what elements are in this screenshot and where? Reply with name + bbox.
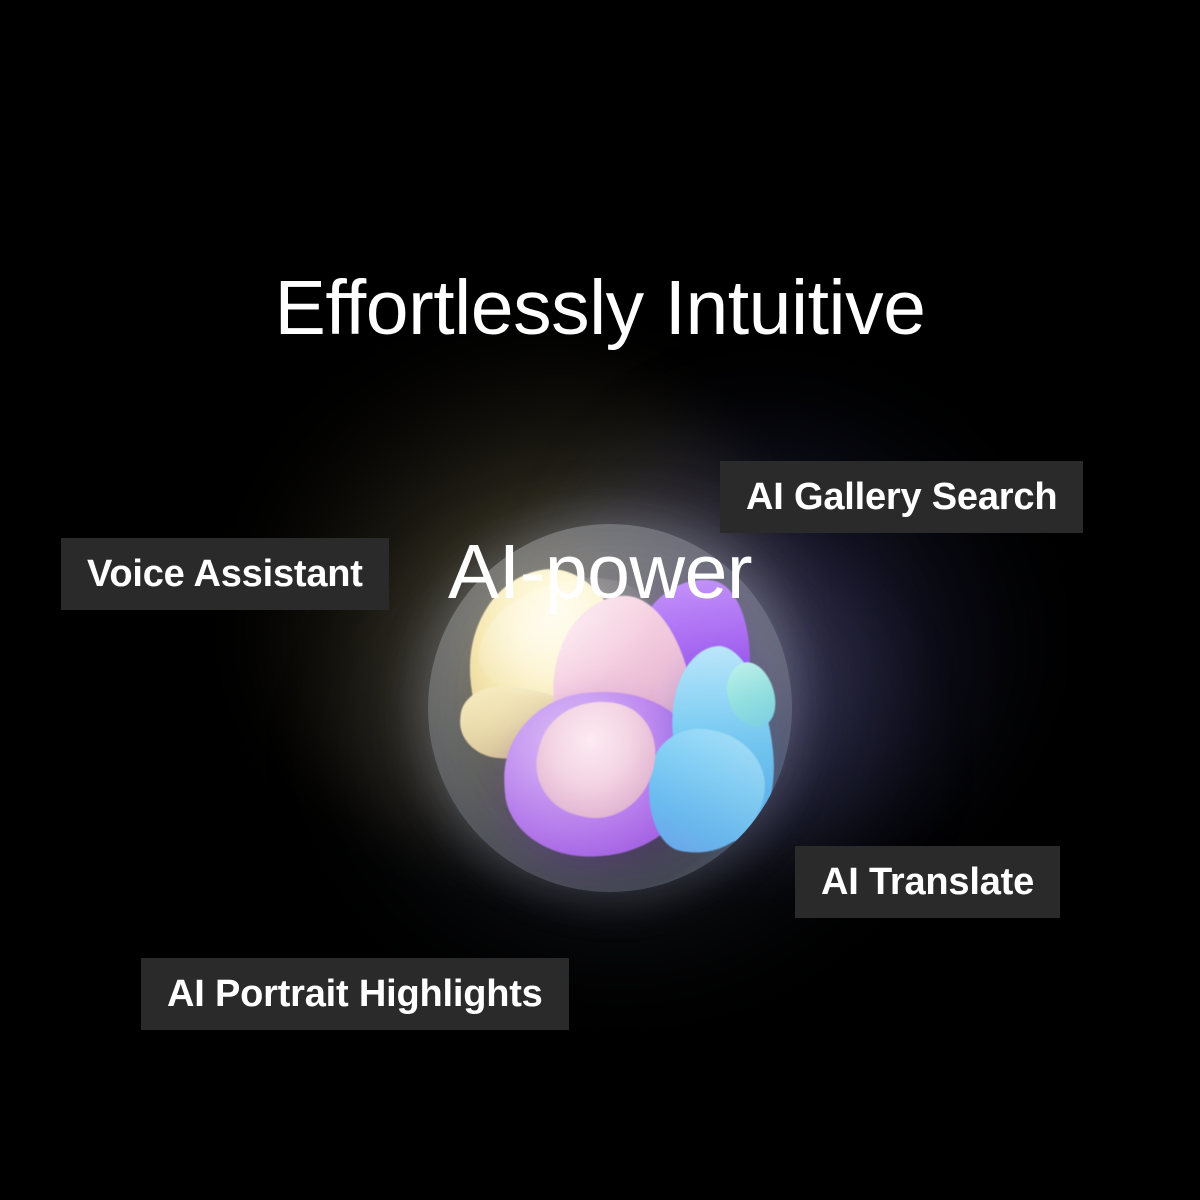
feature-chip-ai-translate[interactable]: AI Translate bbox=[795, 846, 1060, 918]
page-title: Effortlessly Intuitive AI-power bbox=[0, 88, 1200, 792]
feature-chip-label: AI Translate bbox=[821, 863, 1034, 901]
promo-stage: Effortlessly Intuitive AI-power bbox=[0, 0, 1200, 1200]
feature-chip-ai-portrait-highlights[interactable]: AI Portrait Highlights bbox=[141, 958, 569, 1030]
feature-chip-label: AI Portrait Highlights bbox=[167, 975, 543, 1013]
page-title-line-1: Effortlessly Intuitive bbox=[0, 264, 1200, 352]
page-title-line-2: AI-power bbox=[0, 528, 1200, 616]
